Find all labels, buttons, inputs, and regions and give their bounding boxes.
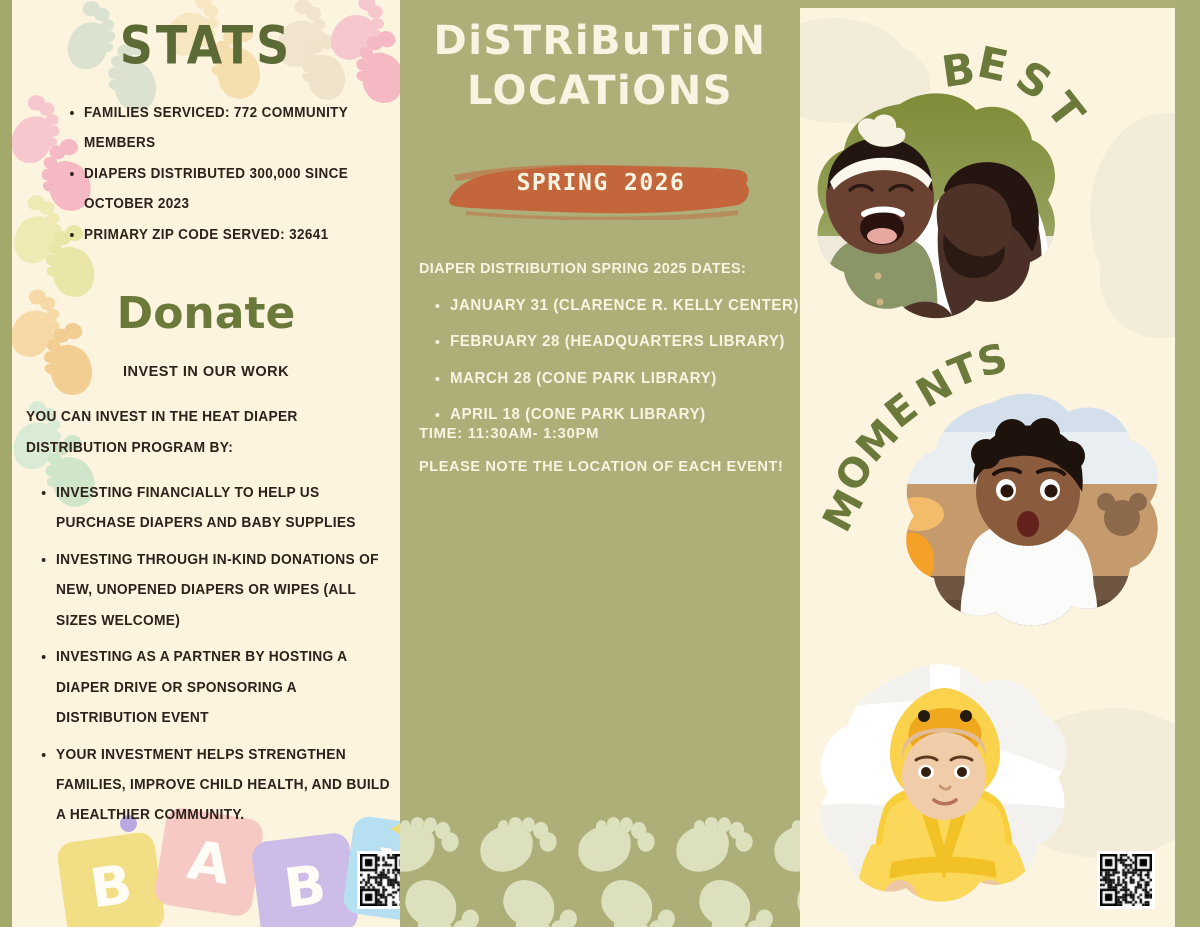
donate-subtitle: INVEST IN OUR WORK <box>12 364 400 380</box>
distribution-time: TIME: 11:30AM- 1:30PM <box>419 425 789 442</box>
donate-points-list: INVESTING FINANCIALLY TO HELP US PURCHAS… <box>34 478 400 837</box>
baby-in-duck-robe-photo <box>810 658 1076 927</box>
qr-code-image <box>1100 854 1152 906</box>
distribution-note: PLEASE NOTE THE LOCATION OF EACH EVENT! <box>419 458 788 475</box>
arc-letter: B <box>939 44 978 98</box>
footprint-icon <box>587 870 679 927</box>
list-item: INVESTING AS A PARTNER BY HOSTING A DIAP… <box>56 642 398 733</box>
block-letter-b2: B <box>250 831 359 927</box>
distribution-heading: DiSTRiBuTiON LOCATiONS <box>400 16 800 116</box>
dates-heading: DIAPER DISTRIBUTION SPRING 2025 DATES: <box>419 260 774 277</box>
distribution-dates-list: JANUARY 31 (CLARENCE R. KELLY CENTER) FE… <box>424 288 800 434</box>
block-letter-b1: B <box>56 831 167 927</box>
arc-letter: E <box>973 37 1012 92</box>
list-item: FEBRUARY 28 (HEADQUARTERS LIBRARY) <box>450 324 800 360</box>
list-item: PRIMARY ZIP CODE SERVED: 32641 <box>84 220 391 250</box>
panel-right-photos: B E S T M O M E N T S <box>800 8 1175 927</box>
left-green-edge <box>0 0 12 927</box>
list-item: INVESTING THROUGH IN-KIND DONATIONS OF N… <box>56 545 398 636</box>
qr-code-left[interactable] <box>357 851 400 909</box>
list-item: MARCH 28 (CONE PARK LIBRARY) <box>450 361 800 397</box>
footprint-pattern-middle <box>400 800 800 927</box>
footprint-decoration <box>600 864 666 927</box>
moments-arc-text: M O M E N T S <box>810 338 1030 568</box>
list-item: DIAPERS DISTRIBUTED 300,000 SINCE OCTOBE… <box>84 159 391 220</box>
donate-heading: Donate <box>12 288 400 339</box>
season-badge-label: SPRING 2026 <box>446 170 756 196</box>
qr-code-right[interactable] <box>1097 851 1155 909</box>
footprint-decoration <box>698 864 764 927</box>
list-item: JANUARY 31 (CLARENCE R. KELLY CENTER) <box>450 288 800 324</box>
distribution-heading-line1: DiSTRiBuTiON <box>400 16 800 66</box>
qr-code-image <box>360 854 400 906</box>
footprint-icon <box>400 870 483 927</box>
footprint-decoration <box>502 864 568 927</box>
footprint-icon <box>685 870 777 927</box>
footprint-icon <box>489 870 581 927</box>
stats-list: FAMILIES SERVICED: 772 COMMUNITY MEMBERS… <box>64 98 400 250</box>
stats-heading: STATS <box>12 14 400 76</box>
panel-left-stats-donate: STATS FAMILIES SERVICED: 772 COMMUNITY M… <box>12 0 400 927</box>
footprint-decoration <box>796 864 800 927</box>
panel-middle-distribution: DiSTRiBuTiON LOCATiONS SPRING 2026 DIAPE… <box>400 0 800 927</box>
list-item: FAMILIES SERVICED: 772 COMMUNITY MEMBERS <box>84 98 391 159</box>
list-item: INVESTING FINANCIALLY TO HELP US PURCHAS… <box>56 478 398 539</box>
footprint-decoration <box>404 864 470 927</box>
donate-intro-text: YOU CAN INVEST IN THE HEAT DIAPER DISTRI… <box>26 402 378 464</box>
footprint-decorations-left <box>12 0 400 560</box>
brochure: STATS FAMILIES SERVICED: 772 COMMUNITY M… <box>0 0 1200 927</box>
distribution-heading-line2: LOCATiONS <box>400 66 800 116</box>
list-item: YOUR INVESTMENT HELPS STRENGTHEN FAMILIE… <box>56 740 398 831</box>
best-arc-text: B E S T <box>940 18 1120 158</box>
right-green-edge <box>1175 0 1200 927</box>
